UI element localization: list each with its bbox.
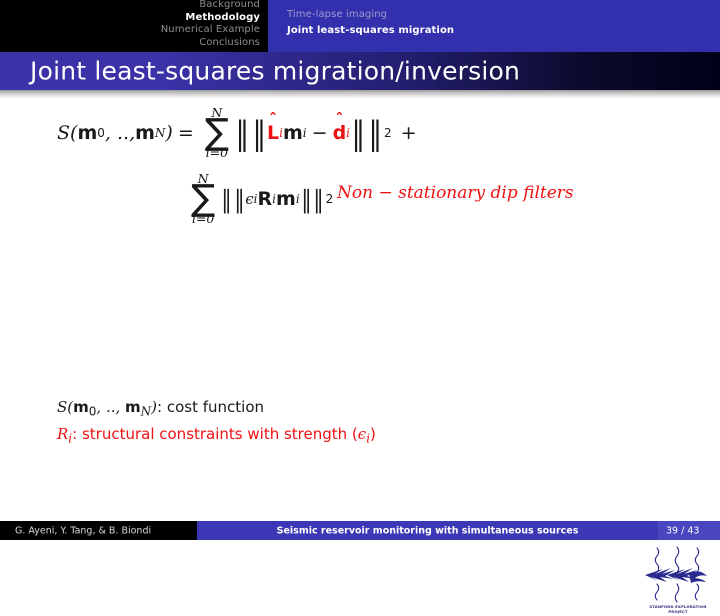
norm-bar-close-1a: ∥: [351, 122, 365, 145]
model-vector-m-subscript-line1: i: [303, 126, 307, 140]
legend-m0: m: [73, 398, 89, 416]
minus-sign: −: [312, 122, 328, 144]
data-d-subscript: i: [346, 126, 350, 140]
norm-bar-open-2b: ∥: [234, 191, 245, 209]
title-shadow-divider: [0, 90, 720, 99]
hat-accent-icon-d: ˆ: [335, 113, 343, 129]
definitions-list: S(m0, .., mN): cost function Ri: structu…: [57, 397, 376, 452]
definition-cost-function: S(m0, .., mN): cost function: [57, 397, 376, 422]
norm-bar-close-2a: ∥: [301, 191, 312, 209]
model-vector-m0-subscript: 0: [97, 126, 105, 140]
summation-operator-2: N ∑ i=0: [191, 173, 215, 226]
footer-page-segment: 39 / 43: [658, 521, 720, 540]
equation-line-1: S(m0, .., mN) = N ∑ i=0 ∥∥ Lˆimi − dˆi ∥…: [57, 107, 417, 160]
legend-epsilon-symbol: ϵ: [358, 425, 366, 443]
footer-page-number: 39 / 43: [666, 525, 699, 536]
plus-sign: +: [401, 122, 417, 144]
sigma-icon-2: ∑: [191, 184, 215, 215]
equation-line-2: N ∑ i=0 ∥∥ϵiRimi∥∥2: [186, 173, 333, 226]
subsection-nav-item-joint-least-squares-migration[interactable]: Joint least-squares migration: [287, 23, 454, 39]
subsection-nav-list: Time-lapse imaging Joint least-squares m…: [287, 7, 454, 39]
legend-mN: m: [125, 398, 141, 416]
page-title: Joint least-squares migration/inversion: [30, 57, 520, 86]
cost-function-symbol: S: [57, 122, 70, 144]
linear-operator-L-hat: Lˆ: [267, 122, 279, 144]
sep-logo-caption: STANFORD EXPLORATION PROJECT: [641, 604, 715, 614]
subsection-nav-item-time-lapse-imaging[interactable]: Time-lapse imaging: [287, 7, 454, 23]
section-nav-item-background[interactable]: Background: [161, 0, 260, 12]
equals-sign: =: [178, 122, 194, 144]
model-vector-ellipsis: , ..,: [105, 122, 135, 144]
norm-bar-open-1a: ∥: [235, 122, 249, 145]
epsilon-symbol: ϵ: [245, 190, 253, 208]
regularization-operator-R: R: [258, 188, 273, 210]
summation-operator-1: N ∑ i=0: [205, 107, 229, 160]
footer-bar: G. Ayeni, Y. Tang, & B. Biondi Seismic r…: [0, 521, 720, 540]
definition-structural-constraints-text-b: ): [370, 425, 376, 443]
slide-content: S(m0, .., mN) = N ∑ i=0 ∥∥ Lˆimi − dˆi ∥…: [0, 99, 720, 519]
slide: Background Methodology Numerical Example…: [0, 0, 720, 540]
equation-annotation: Non − stationary dip filters: [337, 183, 574, 203]
legend-S-symbol: S: [57, 398, 67, 416]
legend-R-symbol: R: [57, 425, 68, 443]
data-vector-d-hat: dˆ: [333, 122, 347, 144]
header-navigation: Background Methodology Numerical Example…: [0, 0, 720, 52]
slide-title-bar: Joint least-squares migration/inversion: [0, 52, 720, 90]
definition-structural-constraints-text-a: : structural constraints with strength (: [72, 425, 358, 443]
footer-title-segment: Seismic reservoir monitoring with simult…: [197, 521, 658, 540]
section-nav-item-methodology[interactable]: Methodology: [161, 12, 260, 25]
summation-lower-limit-1: i=0: [206, 147, 228, 160]
legend-ellipsis: , ..,: [96, 398, 125, 416]
model-vector-m-line1: m: [283, 122, 303, 144]
norm-order-subscript-2: 2: [326, 192, 334, 206]
norm-order-subscript-1: 2: [384, 126, 392, 140]
footer-authors: G. Ayeni, Y. Tang, & B. Biondi: [15, 525, 151, 536]
footer-talk-title: Seismic reservoir monitoring with simult…: [277, 525, 579, 536]
definition-cost-function-text: : cost function: [157, 398, 264, 416]
header-sections-panel: Background Methodology Numerical Example…: [0, 0, 268, 52]
model-vector-mN: m: [135, 122, 155, 144]
model-vector-mN-subscript: N: [155, 126, 166, 140]
norm-bar-open-1b: ∥: [252, 122, 266, 145]
hat-accent-icon: ˆ: [269, 113, 277, 129]
header-subsections-panel: Time-lapse imaging Joint least-squares m…: [268, 0, 720, 52]
paren-open: (: [70, 122, 77, 144]
legend-mN-subscript: N: [141, 404, 152, 418]
model-vector-m0: m: [77, 122, 97, 144]
model-vector-m-line2: m: [276, 188, 296, 210]
footer-authors-segment: G. Ayeni, Y. Tang, & B. Biondi: [0, 521, 197, 540]
section-nav-item-numerical-example[interactable]: Numerical Example: [161, 24, 260, 37]
model-vector-m-subscript-line2: i: [296, 192, 300, 206]
norm-bar-open-2a: ∥: [221, 191, 232, 209]
section-nav-item-conclusions[interactable]: Conclusions: [161, 37, 260, 50]
definition-structural-constraints: Ri: structural constraints with strength…: [57, 424, 376, 449]
summation-lower-limit-2: i=0: [192, 213, 214, 226]
section-nav-list: Background Methodology Numerical Example…: [161, 0, 260, 49]
sigma-icon: ∑: [205, 118, 229, 149]
paren-close: ): [165, 122, 172, 144]
norm-bar-close-1b: ∥: [368, 122, 382, 145]
norm-bar-close-2b: ∥: [313, 191, 324, 209]
